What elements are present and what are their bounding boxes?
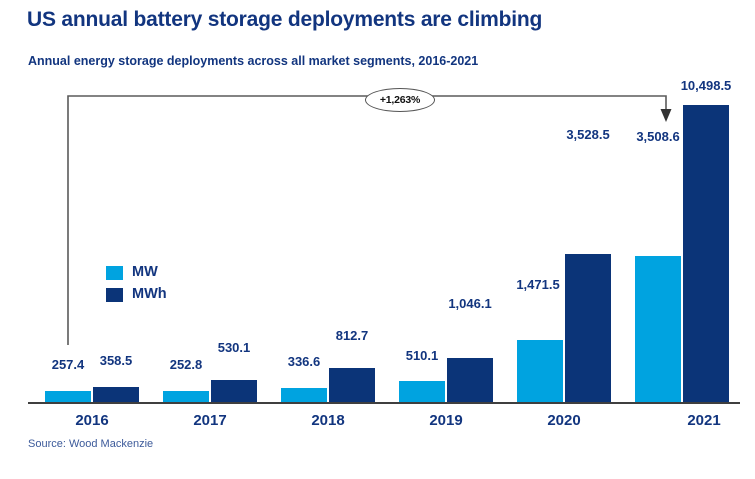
x-axis-line — [28, 402, 740, 404]
bar-mwh-2017 — [211, 380, 257, 402]
x-tick-2018: 2018 — [281, 412, 375, 429]
bar-label-mwh-2020: 3,528.5 — [559, 127, 617, 142]
bar-label-mwh-2017: 530.1 — [211, 340, 257, 355]
bar-mwh-2019 — [447, 358, 493, 402]
bar-mw-2021 — [635, 256, 681, 402]
legend-item-mw[interactable]: MW — [106, 263, 167, 282]
x-tick-2017: 2017 — [163, 412, 257, 429]
bar-mwh-2018 — [329, 368, 375, 402]
bar-mw-2018 — [281, 388, 327, 402]
bar-label-mw-2021: 3,508.6 — [629, 129, 687, 144]
source-note: Source: Wood Mackenzie — [28, 438, 153, 450]
bar-label-mwh-2018: 812.7 — [329, 328, 375, 343]
bar-mwh-2020 — [565, 254, 611, 402]
plot-area: 257.4 358.5 2016 252.8 530.1 2017 336.6 … — [0, 0, 755, 479]
x-tick-2020: 2020 — [517, 412, 611, 429]
bar-mwh-2016 — [93, 387, 139, 402]
bar-label-mwh-2019: 1,046.1 — [447, 296, 493, 311]
bar-label-mwh-2021: 10,498.5 — [672, 78, 740, 93]
legend-swatch-mwh-icon — [106, 288, 123, 302]
bar-label-mwh-2016: 358.5 — [93, 353, 139, 368]
x-tick-2019: 2019 — [399, 412, 493, 429]
bar-mwh-2021 — [683, 105, 729, 402]
bar-label-mw-2016: 257.4 — [45, 357, 91, 372]
bar-label-mw-2017: 252.8 — [163, 357, 209, 372]
bar-label-mw-2020: 1,471.5 — [510, 277, 566, 292]
bar-label-mw-2019: 510.1 — [399, 348, 445, 363]
bar-mw-2016 — [45, 391, 91, 402]
legend-label-mw: MW — [132, 265, 158, 280]
legend-label-mwh: MWh — [132, 287, 167, 302]
bar-label-mw-2018: 336.6 — [281, 354, 327, 369]
bar-mw-2019 — [399, 381, 445, 402]
x-tick-2021: 2021 — [657, 412, 751, 429]
bar-mw-2020 — [517, 340, 563, 402]
legend-swatch-mw-icon — [106, 266, 123, 280]
bar-mw-2017 — [163, 391, 209, 402]
legend: MW MWh — [106, 263, 167, 307]
legend-item-mwh[interactable]: MWh — [106, 285, 167, 304]
chart-container: US annual battery storage deployments ar… — [0, 0, 755, 479]
x-tick-2016: 2016 — [45, 412, 139, 429]
